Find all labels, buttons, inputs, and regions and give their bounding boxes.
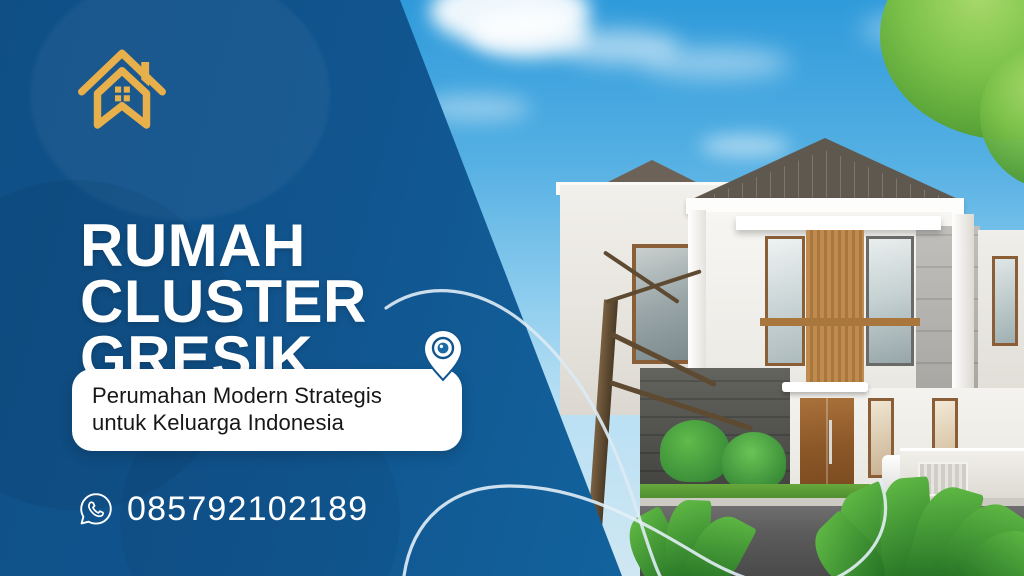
door-handle: [829, 420, 832, 464]
subtitle-pill: Perumahan Modern Strategis untuk Keluarg…: [72, 369, 462, 451]
porch-beam: [782, 382, 868, 392]
canopy: [736, 216, 941, 230]
neighbour-right-window: [992, 256, 1018, 346]
phone-number[interactable]: 085792102189: [127, 492, 368, 526]
promo-banner: RUMAH CLUSTER GRESIK Perumahan Modern St…: [0, 0, 1024, 576]
headline-line-1: RUMAH: [80, 218, 367, 274]
subtitle-line-2: untuk Keluarga Indonesia: [92, 409, 442, 436]
upper-window: [866, 236, 914, 366]
shrub: [660, 420, 730, 482]
map-pin-icon: [420, 327, 466, 383]
house-logo: [78, 48, 166, 132]
headline-line-2: CLUSTER: [80, 274, 367, 330]
foreground-plant: [824, 470, 1024, 576]
subtitle-line-1: Perumahan Modern Strategis: [92, 382, 442, 409]
upper-window: [765, 236, 805, 366]
contact-row[interactable]: 085792102189: [78, 491, 368, 527]
house-outline-icon: [78, 48, 166, 132]
foreground-plant: [630, 490, 740, 576]
cloud: [640, 48, 790, 78]
shrub: [722, 432, 786, 490]
balcony-rail: [760, 318, 920, 326]
whatsapp-icon[interactable]: [78, 491, 114, 527]
page-title: RUMAH CLUSTER GRESIK: [80, 218, 367, 385]
